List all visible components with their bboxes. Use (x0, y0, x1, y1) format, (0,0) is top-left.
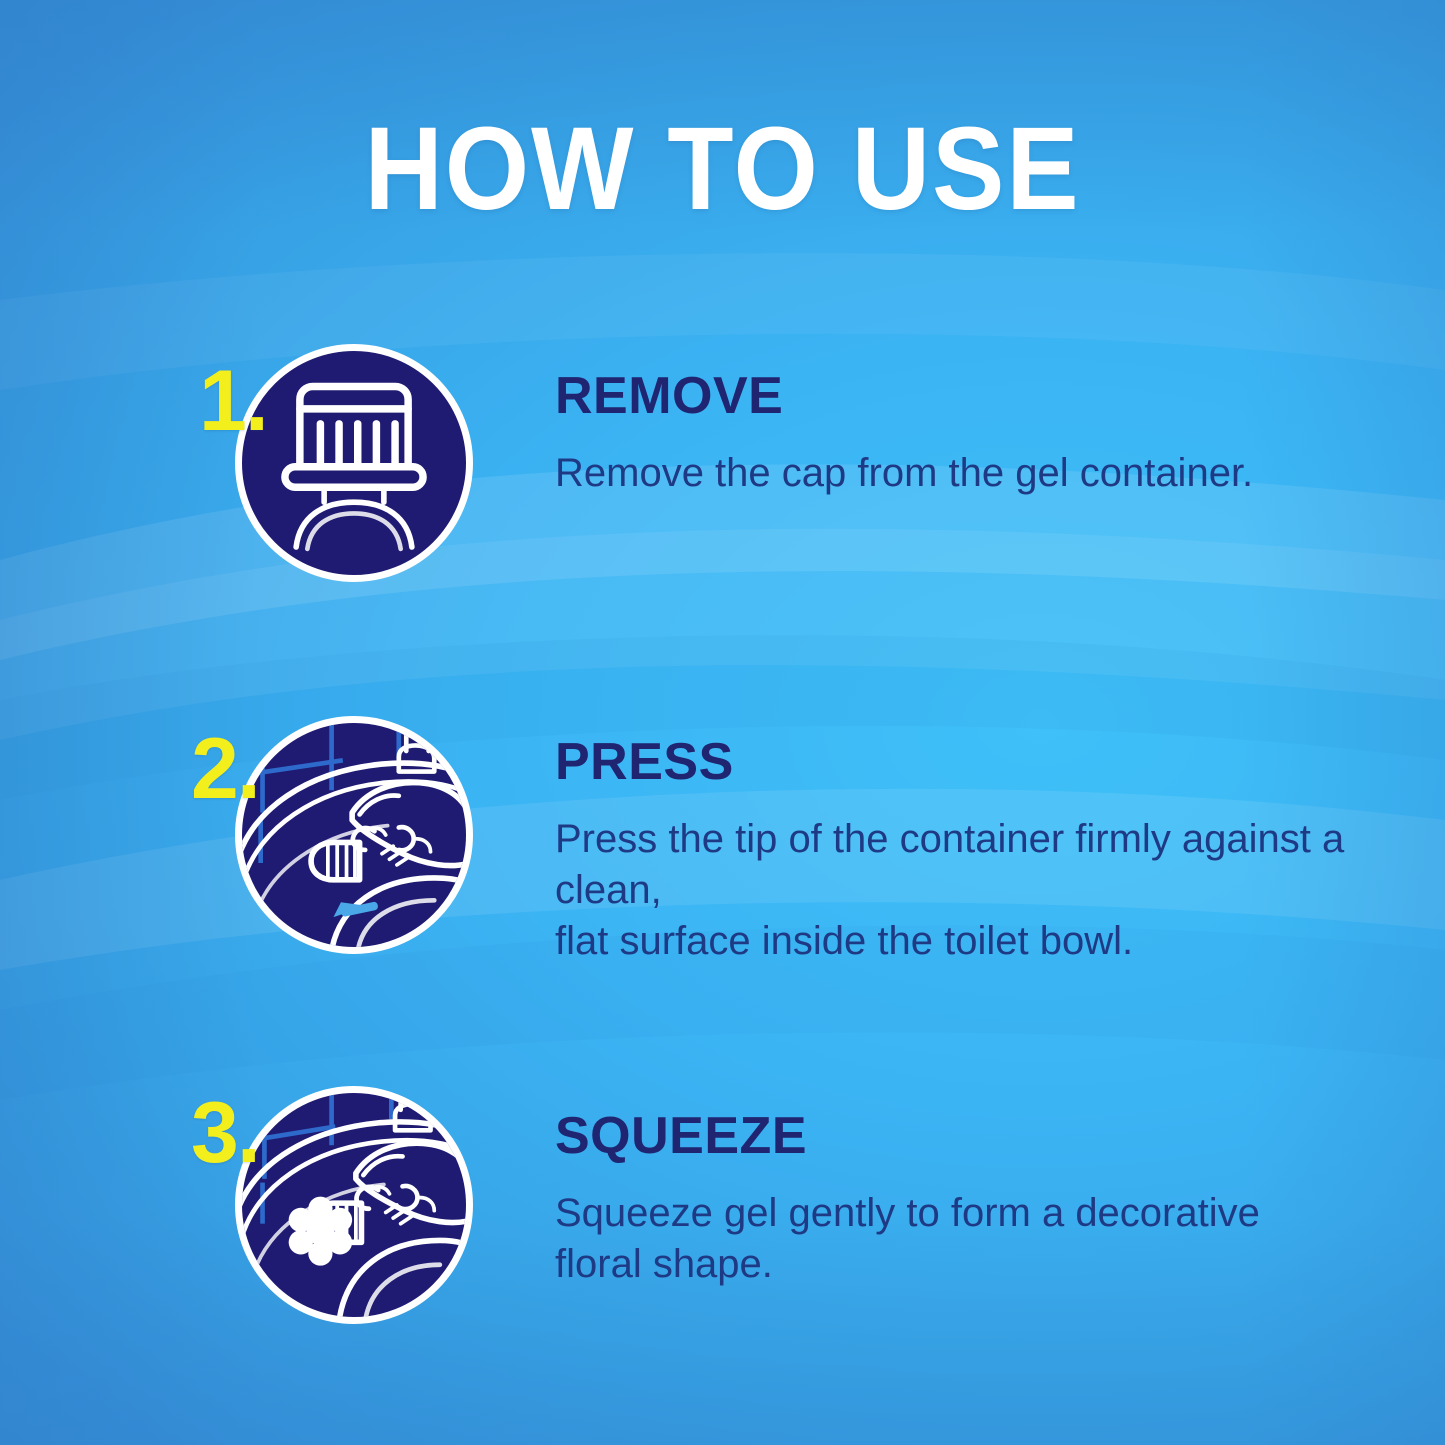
step-heading-1: REMOVE (555, 370, 1355, 422)
step-text-2: PRESS Press the tip of the container fir… (485, 712, 1355, 968)
step-heading-3: SQUEEZE (555, 1110, 1355, 1162)
hand-squeezing-gel-flower-icon (235, 1086, 473, 1324)
step-body-1: Remove the cap from the gel container. (555, 448, 1355, 499)
step-item-squeeze: 3. (185, 1082, 1355, 1332)
step-text-3: SQUEEZE Squeeze gel gently to form a dec… (485, 1082, 1355, 1290)
step-number-3: 3. (191, 1090, 259, 1176)
step-item-remove: 1. (185, 340, 1355, 590)
step-text-1: REMOVE Remove the cap from the gel conta… (485, 340, 1355, 499)
how-to-use-poster: HOW TO USE 1. (0, 0, 1445, 1445)
hand-pressing-dispenser-icon (235, 716, 473, 954)
step-badge-3: 3. (185, 1082, 485, 1332)
gel-flower-shape (289, 1197, 352, 1266)
step-badge-2: 2. (185, 712, 485, 962)
page-title: HOW TO USE (58, 108, 1387, 232)
cap-removal-icon (235, 344, 473, 582)
step-heading-2: PRESS (555, 736, 1355, 788)
step-body-2: Press the tip of the container firmly ag… (555, 814, 1355, 968)
step-item-press: 2. (185, 712, 1355, 962)
step-number-2: 2. (191, 726, 259, 812)
step-badge-1: 1. (185, 340, 485, 590)
step-body-3: Squeeze gel gently to form a decorative … (555, 1188, 1355, 1290)
step-number-1: 1. (199, 358, 267, 444)
